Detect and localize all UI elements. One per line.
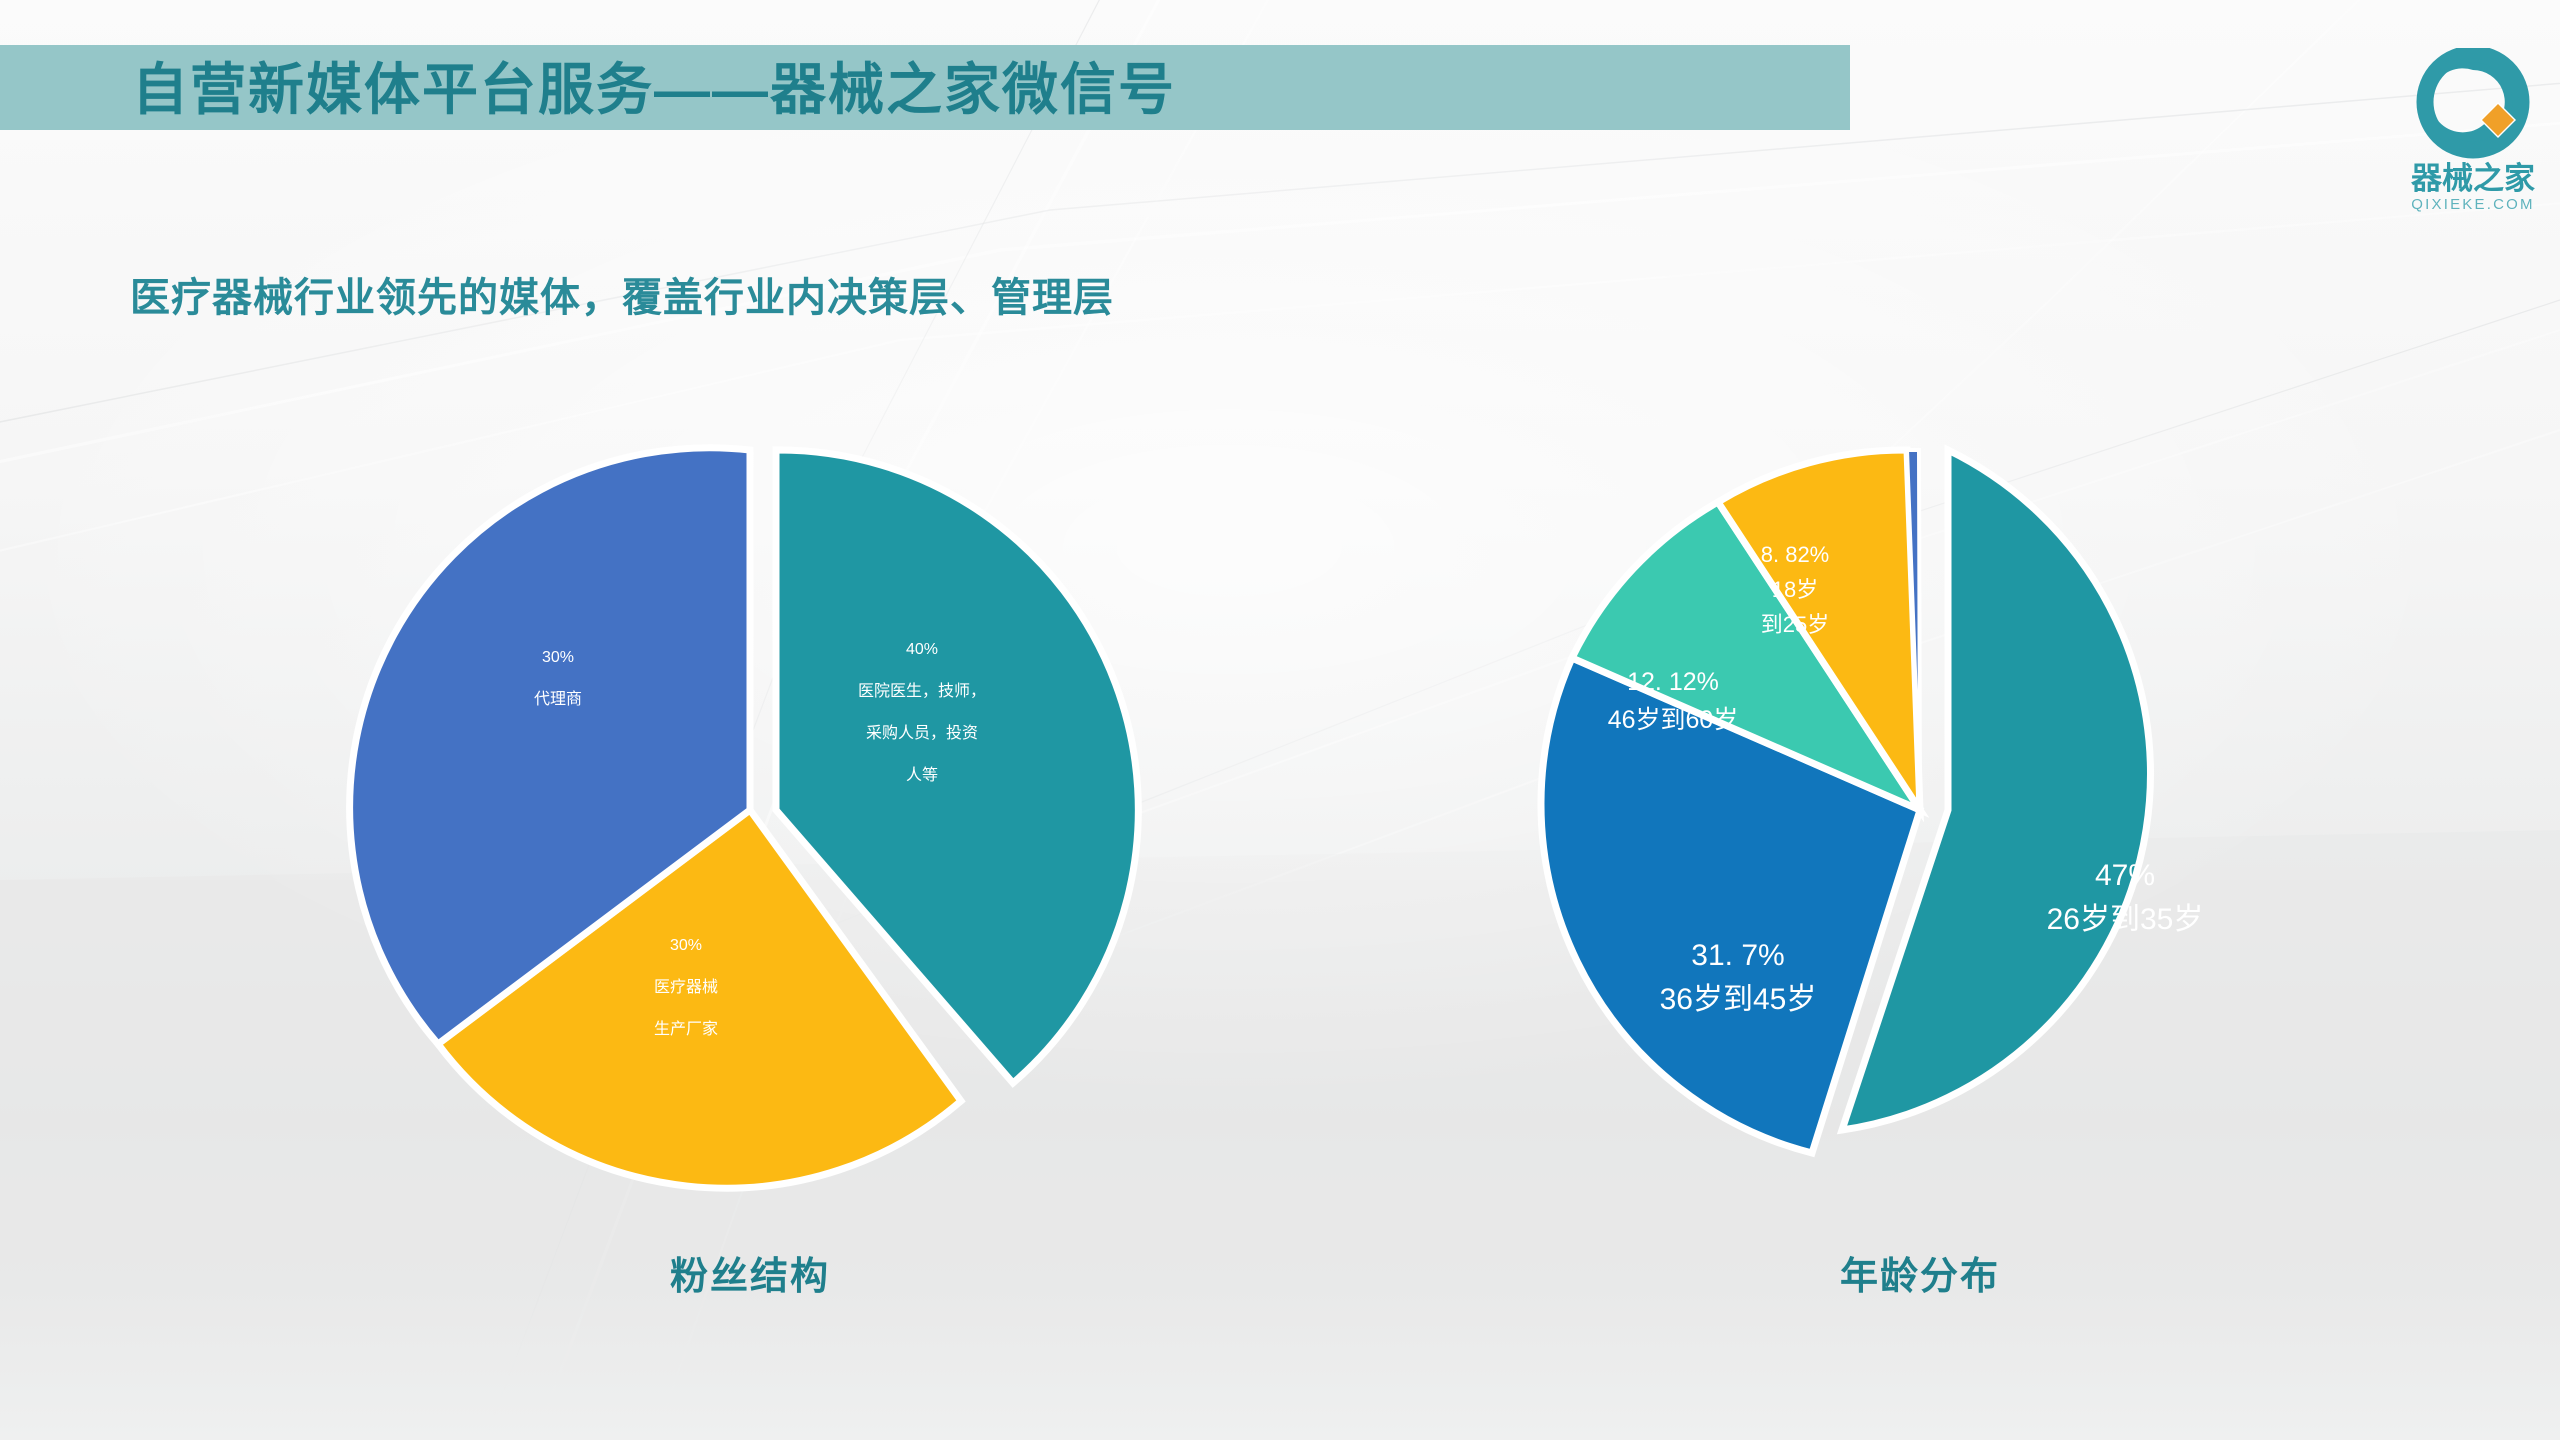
logo-name-en: QIXIEKE.COM bbox=[2388, 196, 2558, 214]
background-bottom-strip bbox=[0, 1290, 2560, 1440]
pie-slices-right bbox=[1541, 450, 2150, 1153]
slice-label-0-l1: 医院医生，技师， bbox=[858, 682, 986, 700]
slice-label-0-l2: 采购人员，投资 bbox=[866, 724, 978, 742]
slice-label-0-pct: 47% bbox=[2095, 859, 2155, 892]
slice-label-1-l1: 医疗器械 bbox=[654, 978, 718, 996]
slice-label-0-l1: 26岁到35岁 bbox=[2047, 903, 2204, 936]
logo-name-cn: 器械之家 bbox=[2388, 162, 2558, 196]
pie-chart-fan-structure: 40% 医院医生，技师， 采购人员，投资 人等 30% 医疗器械 生产厂家 30… bbox=[310, 400, 1190, 1220]
slice-label-3-pct: 8. 82% bbox=[1761, 542, 1830, 567]
slice-label-1-pct: 30% bbox=[670, 937, 702, 954]
slice-label-1-pct: 31. 7% bbox=[1691, 939, 1784, 972]
slice-label-2-l1: 46岁到60岁 bbox=[1608, 706, 1739, 734]
slice-label-2-pct: 12. 12% bbox=[1627, 668, 1719, 696]
subtitle: 医疗器械行业领先的媒体，覆盖行业内决策层、管理层 bbox=[130, 265, 1114, 323]
pie-chart-age-distribution: 47% 26岁到35岁 31. 7% 36岁到45岁 12. 12% 46岁到6… bbox=[1420, 400, 2420, 1220]
slice-label-3-l1: 18岁 bbox=[1772, 577, 1818, 602]
slice-label-0-l3: 人等 bbox=[906, 766, 938, 784]
slide: 自营新媒体平台服务——器械之家微信号 器械之家 QIXIEKE.COM 医疗器械… bbox=[0, 0, 2560, 1440]
slice-label-1-l1: 36岁到45岁 bbox=[1660, 983, 1817, 1016]
slice-label-2-pct: 30% bbox=[542, 649, 574, 666]
page-title: 自营新媒体平台服务——器械之家微信号 bbox=[132, 55, 1176, 125]
slice-label-2-l1: 代理商 bbox=[534, 690, 582, 708]
pie-slices-left bbox=[350, 448, 1139, 1188]
logo[interactable]: 器械之家 QIXIEKE.COM bbox=[2388, 48, 2558, 214]
slice-label-0-pct: 40% bbox=[906, 641, 938, 658]
chart-caption-left: 粉丝结构 bbox=[310, 1245, 1190, 1300]
chart-caption-right: 年龄分布 bbox=[1420, 1245, 2420, 1300]
logo-q-icon bbox=[2414, 48, 2532, 160]
slice-label-3-l2: 到25岁 bbox=[1761, 612, 1829, 637]
slice-label-1-l2: 生产厂家 bbox=[654, 1020, 718, 1038]
